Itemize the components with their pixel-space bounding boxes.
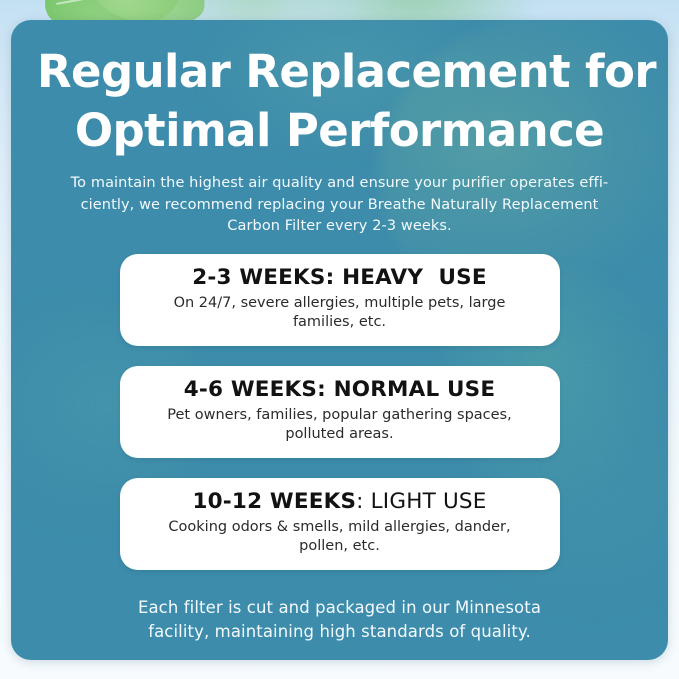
usage-card-light: 10-12 WEEKS: LIGHT USE Cooking odors & s… <box>120 478 560 570</box>
intro-line-2: ciently, we recommend replacing your Bre… <box>54 195 626 217</box>
page-title-line-1: Regular Replacement for <box>37 42 642 101</box>
usage-card-description: Pet owners, families, popular gathering … <box>167 406 511 444</box>
footer-note: Each filter is cut and packaged in our M… <box>70 596 610 644</box>
usage-card-title-light: : LIGHT USE <box>356 489 486 514</box>
usage-card-normal: 4-6 WEEKS: NORMAL USE Pet owners, famili… <box>120 366 560 458</box>
usage-card-description: Cooking odors & smells, mild allergies, … <box>168 518 510 556</box>
usage-card-title: 10-12 WEEKS: LIGHT USE <box>192 490 486 515</box>
intro-paragraph: To maintain the highest air quality and … <box>54 173 626 238</box>
footer-note-line-2: facility, maintaining high standards of … <box>70 620 610 644</box>
usage-card-title: 4-6 WEEKS: NORMAL USE <box>184 378 496 403</box>
usage-card-description-line-2: polluted areas. <box>167 425 511 444</box>
usage-card-description-line-2: families, etc. <box>174 313 506 332</box>
usage-card-description-line-2: pollen, etc. <box>168 537 510 556</box>
usage-card-title-strong: 10-12 WEEKS <box>192 489 356 514</box>
page-title: Regular Replacement for Optimal Performa… <box>37 42 642 161</box>
intro-line-3: Carbon Filter every 2-3 weeks. <box>54 216 626 238</box>
usage-card-description-line-1: Pet owners, families, popular gathering … <box>167 406 511 425</box>
usage-card-title: 2-3 WEEKS: HEAVY USE <box>192 266 487 291</box>
usage-card-description-line-1: On 24/7, severe allergies, multiple pets… <box>174 294 506 313</box>
usage-card-description-line-1: Cooking odors & smells, mild allergies, … <box>168 518 510 537</box>
usage-card-heavy: 2-3 WEEKS: HEAVY USE On 24/7, severe all… <box>120 254 560 346</box>
usage-card-title-strong: 4-6 WEEKS: NORMAL USE <box>184 377 496 402</box>
infographic-card: Regular Replacement for Optimal Performa… <box>11 20 668 660</box>
usage-card-title-strong: 2-3 WEEKS: HEAVY USE <box>192 265 487 290</box>
footer-note-line-1: Each filter is cut and packaged in our M… <box>70 596 610 620</box>
usage-card-list: 2-3 WEEKS: HEAVY USE On 24/7, severe all… <box>37 254 642 570</box>
intro-line-1: To maintain the highest air quality and … <box>54 173 626 195</box>
page-title-line-2: Optimal Performance <box>37 101 642 160</box>
usage-card-description: On 24/7, severe allergies, multiple pets… <box>174 294 506 332</box>
